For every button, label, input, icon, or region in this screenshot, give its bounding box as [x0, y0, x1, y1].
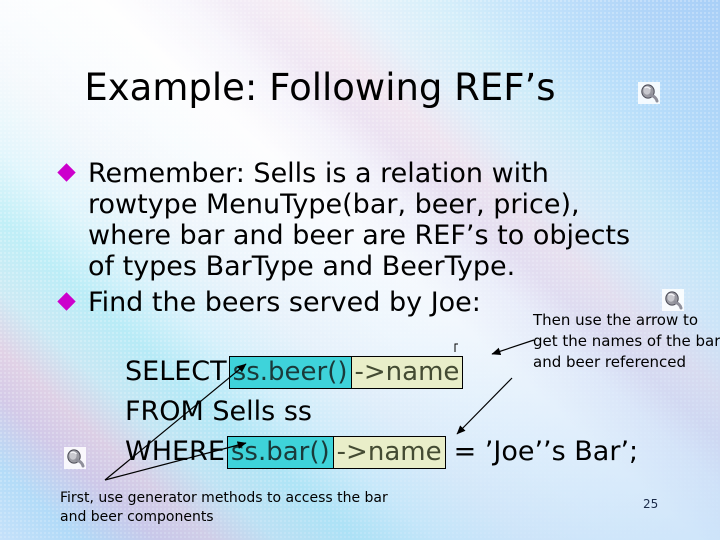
annotation-right-arrow-note: Then use the arrow to get the names of t… [533, 310, 720, 373]
bullet-item-text: Find the beers served by Joe: [88, 287, 481, 318]
swirl-decoration-icon [64, 447, 86, 469]
arrow-deref-name-bar: ->name [333, 437, 445, 468]
swirl-decoration-icon [638, 82, 660, 104]
generator-method-beer: ss.beer() [230, 357, 351, 388]
sql-keyword-select: SELECT [125, 352, 227, 392]
swirl-decoration-icon [662, 289, 684, 311]
slide-title: Example: Following REF’s [0, 66, 640, 110]
highlight-box-beer: ss.beer() ->name [229, 356, 464, 389]
slide-number: 25 [643, 497, 658, 511]
bullet-item-remember: Remember: Sells is a relation with rowty… [58, 158, 658, 282]
diamond-bullet-icon [57, 292, 75, 310]
highlight-box-bar: ss.bar() ->name [227, 436, 446, 469]
generator-method-bar: ss.bar() [228, 437, 333, 468]
annotation-bottom-generator-note: First, use generator methods to access t… [60, 489, 390, 527]
arrow-connector-segment [455, 344, 458, 352]
diamond-bullet-icon [57, 163, 75, 181]
sql-literal-comparison: = ’Joe’’s Bar’; [454, 432, 639, 472]
code-line-from: FROM Sells ss [125, 392, 638, 432]
sql-keyword-from: FROM Sells ss [125, 392, 312, 432]
sql-keyword-where: WHERE [125, 432, 225, 472]
presentation-slide: Example: Following REF’s Remember: Sells… [0, 0, 720, 540]
arrow-deref-name-beer: ->name [351, 357, 463, 388]
code-line-where: WHERE ss.bar() ->name = ’Joe’’s Bar’; [125, 432, 638, 472]
bullet-item-text: Remember: Sells is a relation with rowty… [88, 158, 630, 282]
bullet-list: Remember: Sells is a relation with rowty… [58, 158, 658, 318]
